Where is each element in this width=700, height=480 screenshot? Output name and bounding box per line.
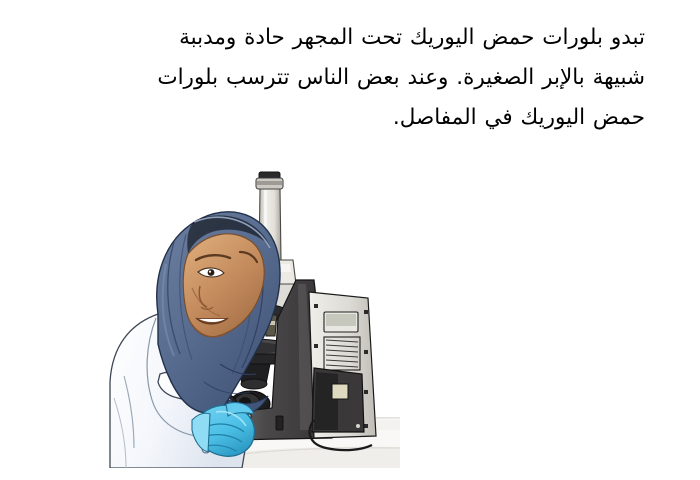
microscope-scene-svg — [100, 168, 400, 468]
caption-text-block: تبدو بلورات حمض اليوريك تحت المجهر حادة … — [55, 18, 645, 138]
caption-line-2: شبيهة بالإبر الصغيرة. وعند بعض الناس تتر… — [55, 58, 645, 98]
caption-line-1: تبدو بلورات حمض اليوريك تحت المجهر حادة … — [55, 18, 645, 58]
illustration-lab-technician-at-microscope — [100, 168, 400, 468]
page-root: تبدو بلورات حمض اليوريك تحت المجهر حادة … — [0, 0, 700, 480]
caption-line-3: حمض اليوريك في المفاصل. — [55, 98, 645, 138]
